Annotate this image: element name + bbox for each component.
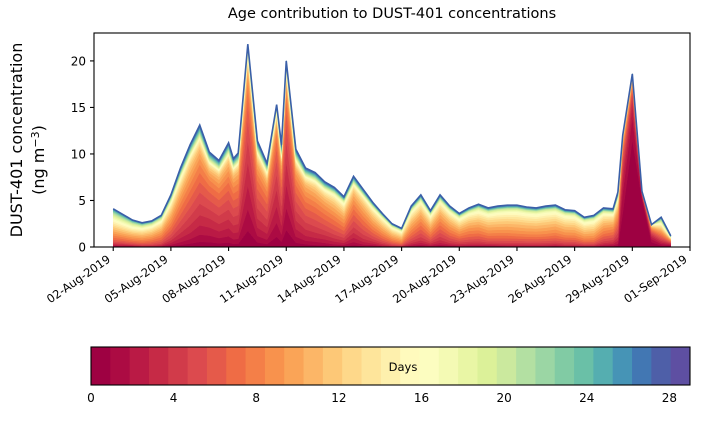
colorbar-label: Days [389,360,418,374]
colorbar-band-19 [458,347,478,385]
colorbar-tick-label: 4 [170,391,178,405]
colorbar-band-6 [207,347,227,385]
colorbar-band-0 [91,347,111,385]
colorbar-tick-label: 8 [252,391,260,405]
y-tick-label: 10 [71,147,86,161]
colorbar-band-26 [593,347,613,385]
colorbar-band-29 [651,347,671,385]
colorbar-band-10 [284,347,304,385]
colorbar-band-17 [419,347,439,385]
colorbar-tick-label: 16 [414,391,429,405]
chart-canvas: Age contribution to DUST-401 concentrati… [0,0,721,425]
colorbar-band-11 [304,347,324,385]
colorbar-tick-label: 12 [331,391,346,405]
colorbar-band-1 [110,347,130,385]
colorbar-band-25 [574,347,594,385]
colorbar-band-24 [555,347,575,385]
colorbar-band-8 [246,347,266,385]
colorbar-band-12 [323,347,343,385]
colorbar-band-9 [265,347,285,385]
colorbar-band-28 [632,347,652,385]
colorbar-tick-label: 20 [496,391,511,405]
colorbar-band-14 [362,347,382,385]
colorbar-band-27 [613,347,633,385]
colorbar-band-2 [130,347,150,385]
y-axis-label-line1: DUST-401 concentration [7,43,26,238]
colorbar-band-20 [477,347,497,385]
colorbar-band-22 [516,347,536,385]
colorbar-band-3 [149,347,169,385]
y-axis-label-units: (ng m [29,148,48,195]
y-tick-label: 20 [71,54,86,68]
y-axis-label-paren: ) [29,125,48,131]
colorbar-band-21 [497,347,517,385]
y-tick-label: 0 [78,241,86,255]
colorbar-tick-label: 0 [87,391,95,405]
colorbar-tick-label: 24 [579,391,594,405]
figure-chart-age-contribution: Age contribution to DUST-401 concentrati… [0,0,721,425]
colorbar-tick-label: 28 [662,391,677,405]
colorbar-band-4 [168,347,188,385]
colorbar-band-23 [535,347,555,385]
y-tick-label: 15 [71,101,86,115]
colorbar-band-13 [342,347,362,385]
y-tick-label: 5 [78,194,86,208]
colorbar-band-18 [439,347,459,385]
chart-title: Age contribution to DUST-401 concentrati… [228,6,556,22]
y-axis-label-exponent: −3 [29,131,42,147]
colorbar-band-5 [188,347,208,385]
colorbar-band-7 [226,347,246,385]
colorbar-band-30 [671,347,691,385]
